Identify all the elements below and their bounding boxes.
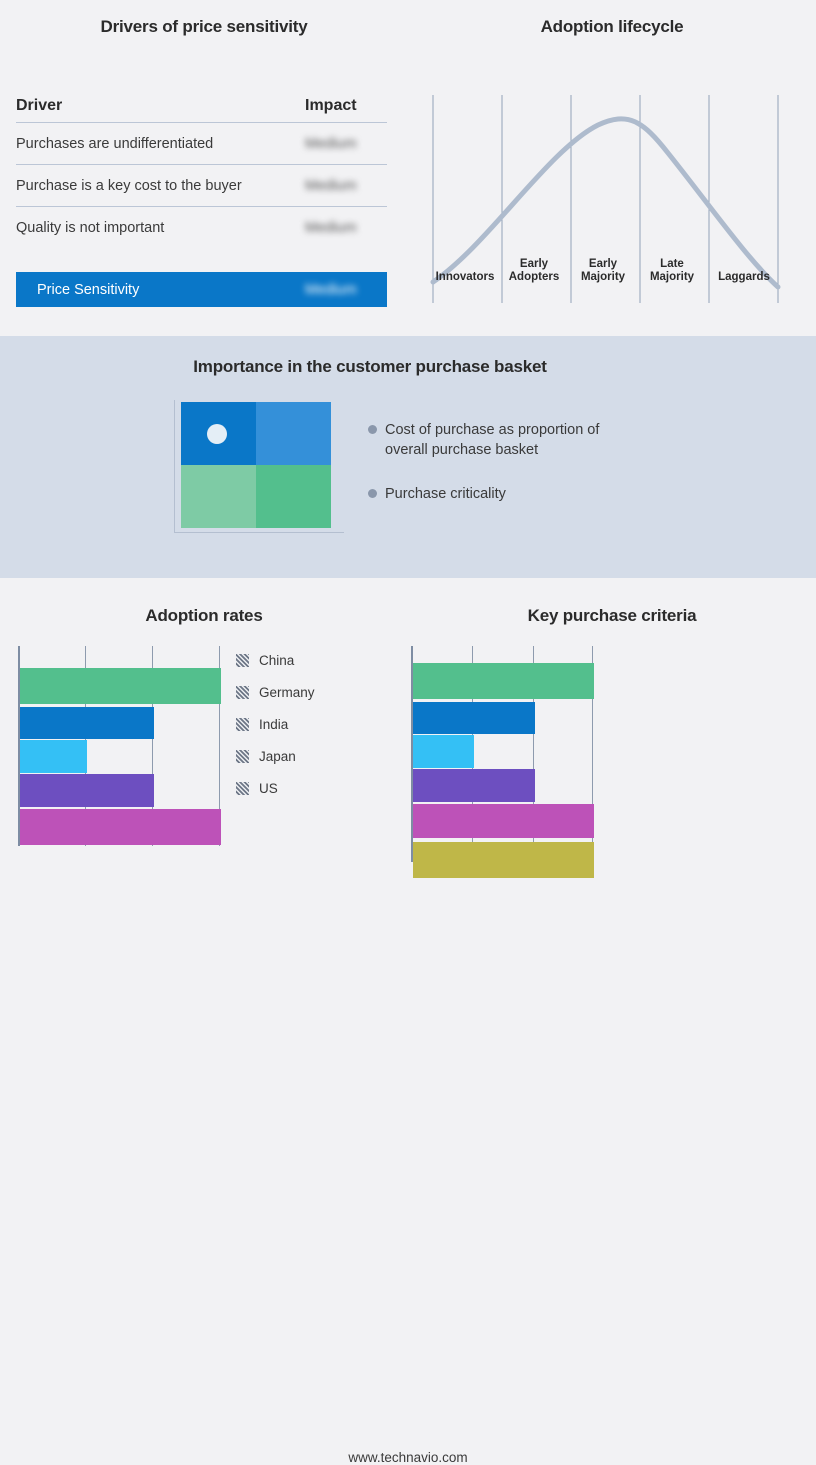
legend-item: Japan	[236, 740, 315, 772]
basket-panel-title: Importance in the customer purchase bask…	[0, 357, 740, 377]
adoption-lifecycle-chart: Innovators Early Adopters Early Majority…	[428, 75, 804, 315]
key-purchase-criteria-panel: Key purchase criteria Innovation Price	[408, 578, 816, 902]
adoption-rates-panel: Adoption rates China Germany Indi	[0, 578, 408, 902]
drivers-panel-title: Drivers of price sensitivity	[0, 17, 408, 37]
legend-item: Purchase criticality	[368, 484, 698, 504]
bar-germany	[20, 707, 154, 739]
impact-value: Medium	[299, 178, 387, 194]
legend-item: Cost of purchase as proportion of overal…	[368, 420, 698, 460]
legend-item-label: Purchase criticality	[385, 484, 506, 504]
bar-us	[20, 809, 221, 845]
driver-name: Purchases are undifferentiated	[16, 136, 299, 152]
bar-relatability	[413, 769, 535, 802]
legend-item-label: India	[259, 717, 288, 732]
lifecycle-label-line2: Majority	[563, 271, 643, 284]
basket-quadrant-matrix	[181, 402, 331, 528]
basket-axis-vertical	[174, 400, 175, 532]
adoption-lifecycle-panel: Adoption lifecycle Innovators Early	[408, 0, 816, 336]
legend-item: US	[236, 772, 315, 804]
legend-item-label: Germany	[259, 685, 315, 700]
table-header-row: Driver Impact	[16, 90, 387, 123]
legend-item: Germany	[236, 676, 315, 708]
bullet-icon	[368, 425, 377, 434]
hatched-swatch-icon	[236, 750, 249, 763]
hatched-swatch-icon	[236, 686, 249, 699]
lifecycle-label-early-adopters: Early Adopters	[494, 258, 574, 284]
hatched-swatch-icon	[236, 782, 249, 795]
price-sensitivity-highlight-row: Price Sensitivity Medium	[16, 272, 387, 307]
legend-item-label: China	[259, 653, 294, 668]
legend-item-label: Cost of purchase as proportion of overal…	[385, 420, 645, 460]
table-row: Purchases are undifferentiated Medium	[16, 123, 387, 165]
lifecycle-label-late-majority: Late Majority	[632, 258, 712, 284]
price-sensitivity-label: Price Sensitivity	[16, 282, 299, 298]
table-row: Quality is not important Medium	[16, 207, 387, 248]
lifecycle-label-laggards: Laggards	[704, 271, 784, 284]
lifecycle-label-line1: Early	[563, 258, 643, 271]
adoption-rates-chart	[18, 646, 221, 846]
impact-value: Medium	[299, 220, 387, 236]
quadrant-top-left	[181, 402, 256, 465]
drivers-table: Driver Impact Purchases are undifferenti…	[16, 90, 387, 248]
lifecycle-label-line2: Innovators	[425, 271, 505, 284]
price-sensitivity-impact: Medium	[299, 282, 387, 298]
basket-legend: Cost of purchase as proportion of overal…	[368, 420, 698, 528]
key-purchase-criteria-chart	[411, 646, 593, 862]
driver-name: Quality is not important	[16, 220, 299, 236]
lifecycle-label-line2: Majority	[632, 271, 712, 284]
lifecycle-label-line2: Adopters	[494, 271, 574, 284]
driver-name: Purchase is a key cost to the buyer	[16, 178, 299, 194]
legend-item: China	[236, 644, 315, 676]
adoption-rates-legend: China Germany India Japan US	[236, 644, 315, 804]
impact-value: Medium	[299, 136, 387, 152]
top-section: Drivers of price sensitivity Driver Impa…	[0, 0, 816, 336]
legend-item: India	[236, 708, 315, 740]
hatched-swatch-icon	[236, 718, 249, 731]
lifecycle-label-innovators: Innovators	[425, 271, 505, 284]
bar-price	[413, 702, 535, 734]
quadrant-bottom-left	[181, 465, 256, 528]
lifecycle-label-line2: Laggards	[704, 271, 784, 284]
bar-service	[413, 842, 594, 878]
legend-item-label: US	[259, 781, 278, 796]
bar-innovation	[413, 663, 594, 699]
bar-quality	[413, 735, 474, 768]
bar-regulatory-compliance	[413, 804, 594, 838]
bottom-section: Adoption rates China Germany Indi	[0, 578, 816, 902]
quadrant-bottom-right	[256, 465, 331, 528]
hatched-swatch-icon	[236, 654, 249, 667]
lifecycle-panel-title: Adoption lifecycle	[408, 17, 816, 37]
lifecycle-label-line1: Late	[632, 258, 712, 271]
data-point-marker	[207, 424, 227, 444]
column-header-impact: Impact	[299, 97, 387, 115]
drivers-of-price-sensitivity-panel: Drivers of price sensitivity Driver Impa…	[0, 0, 408, 336]
column-header-driver: Driver	[16, 97, 299, 115]
quadrant-top-right	[256, 402, 331, 465]
bar-japan	[20, 774, 154, 807]
purchase-basket-section: Importance in the customer purchase bask…	[0, 336, 816, 578]
bar-china	[20, 668, 221, 704]
basket-axis-horizontal	[174, 532, 344, 533]
legend-item-label: Japan	[259, 749, 296, 764]
adoption-panel-title: Adoption rates	[0, 606, 408, 626]
footer-url: www.technavio.com	[0, 1450, 816, 1465]
bar-india	[20, 740, 87, 773]
criteria-panel-title: Key purchase criteria	[408, 606, 816, 626]
table-row: Purchase is a key cost to the buyer Medi…	[16, 165, 387, 207]
lifecycle-label-line1: Early	[494, 258, 574, 271]
lifecycle-label-early-majority: Early Majority	[563, 258, 643, 284]
bullet-icon	[368, 489, 377, 498]
